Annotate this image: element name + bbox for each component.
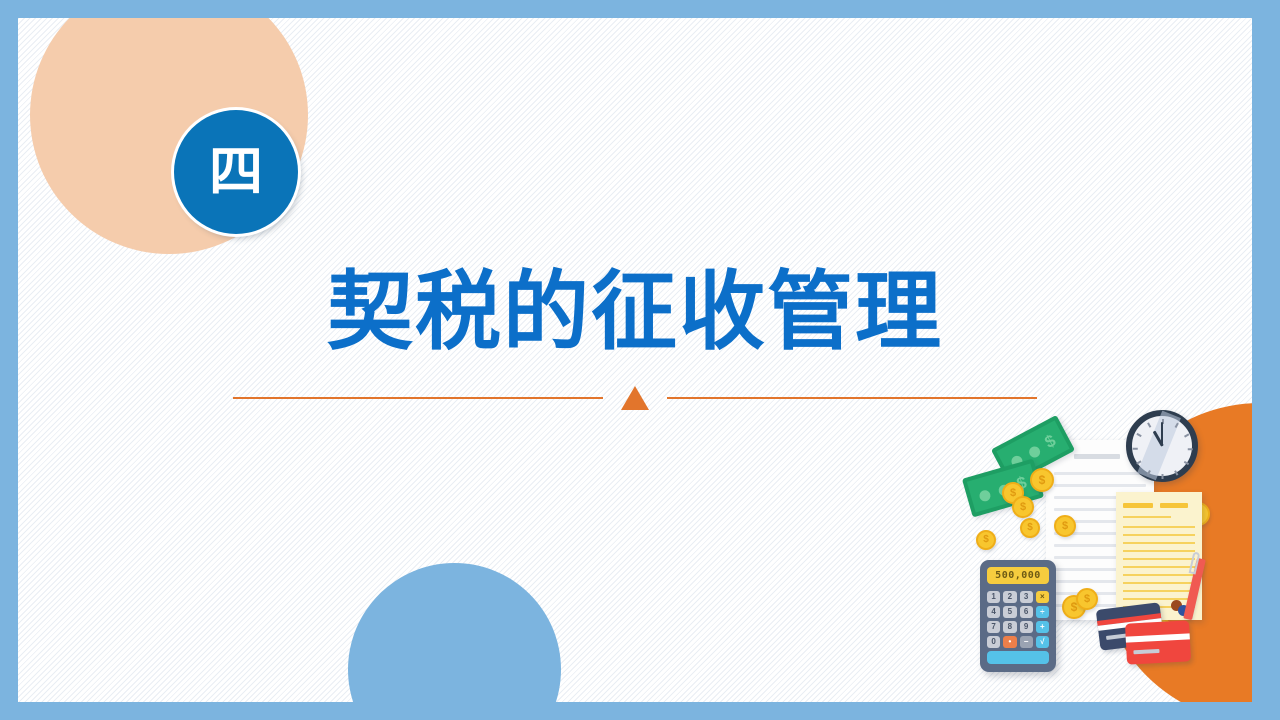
calc-key: 0 xyxy=(987,636,1000,648)
calc-key: 6 xyxy=(1020,606,1033,618)
calc-key: × xyxy=(1036,591,1049,603)
slide-panel: 四 契税的征收管理 xyxy=(18,18,1252,702)
calc-key: + xyxy=(1036,621,1049,633)
clock-minute-hand xyxy=(1161,422,1163,446)
coin-icon: $ xyxy=(1020,518,1040,538)
divider-rule-right xyxy=(667,397,1037,399)
blue-decor-circle xyxy=(348,563,561,702)
calculator-display-value: 500,000 xyxy=(995,570,1041,581)
calc-key: 7 xyxy=(987,621,1000,633)
slide-root: 四 契税的征收管理 xyxy=(0,0,1280,720)
section-number-badge: 四 xyxy=(174,110,298,234)
coin-icon: $ xyxy=(976,530,996,550)
credit-card-icon xyxy=(1125,620,1191,664)
section-number-label: 四 xyxy=(209,145,263,199)
calc-key: ÷ xyxy=(1036,606,1049,618)
calculator-icon: 500,000 1 2 3 × 4 5 6 ÷ 7 8 9 + 0 • xyxy=(980,560,1056,672)
title-divider xyxy=(18,386,1252,410)
calculator-equals-key xyxy=(987,651,1049,664)
calc-key: • xyxy=(1003,636,1016,648)
page-title: 契税的征收管理 xyxy=(18,264,1252,360)
calc-key: 4 xyxy=(987,606,1000,618)
calc-key: 5 xyxy=(1003,606,1016,618)
coin-icon: $ xyxy=(1076,588,1098,610)
wall-clock-icon xyxy=(1126,410,1198,482)
calc-key: − xyxy=(1020,636,1033,648)
calc-key: 2 xyxy=(1003,591,1016,603)
divider-rule-left xyxy=(233,397,603,399)
coin-icon: $ xyxy=(1054,515,1076,537)
coin-icon: $ xyxy=(1030,468,1054,492)
divider-triangle-icon xyxy=(621,386,649,410)
coin-icon: $ xyxy=(1012,496,1034,518)
dollar-symbol: $ xyxy=(1042,432,1058,451)
calculator-keypad: 1 2 3 × 4 5 6 ÷ 7 8 9 + 0 • − √ xyxy=(987,591,1049,648)
finance-illustration: $ $ $ $ $ $ $ $ $ $ $ $ 500,000 xyxy=(958,410,1248,700)
calc-key: 3 xyxy=(1020,591,1033,603)
calc-key: 9 xyxy=(1020,621,1033,633)
calculator-display: 500,000 xyxy=(987,567,1049,584)
calc-key: 1 xyxy=(987,591,1000,603)
calc-key: 8 xyxy=(1003,621,1016,633)
calc-key: √ xyxy=(1036,636,1049,648)
